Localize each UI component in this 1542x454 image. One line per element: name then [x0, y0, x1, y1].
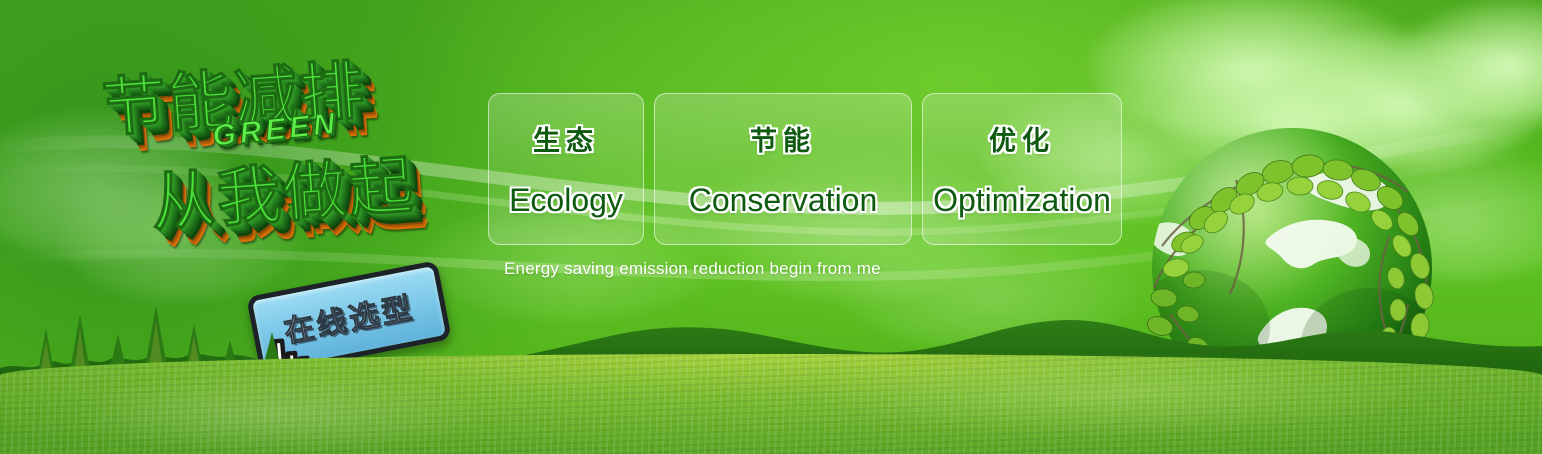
cloud-icon [840, 230, 1140, 350]
cloud-icon [1400, 0, 1542, 120]
feature-card-list: 生态 Ecology 节能 Conservation 优化 Optimizati… [488, 93, 1122, 245]
feature-card-en-label: Optimization [933, 182, 1111, 219]
headline-line-2: 从我做起 [148, 134, 418, 244]
feature-card-cn-label: 生态 [533, 119, 599, 158]
green-energy-banner: 节能减排 GREEN 从我做起 在线选型 生态 Ecology 节能 Conse… [0, 0, 1542, 454]
feature-card-en-label: Ecology [509, 182, 623, 219]
feature-card-en-label: Conservation [689, 182, 878, 219]
online-selection-button-label: 在线选型 [282, 292, 418, 350]
tagline-text: Energy saving emission reduction begin f… [504, 259, 881, 279]
feature-card-optimization[interactable]: 优化 Optimization [922, 93, 1122, 245]
grass-field [0, 354, 1542, 454]
feature-card-cn-label: 优化 [989, 119, 1055, 158]
feature-card-conservation[interactable]: 节能 Conservation [654, 93, 912, 245]
headline-block: 节能减排 GREEN 从我做起 [88, 24, 503, 281]
feature-card-cn-label: 节能 [750, 119, 816, 158]
feature-card-ecology[interactable]: 生态 Ecology [488, 93, 644, 245]
